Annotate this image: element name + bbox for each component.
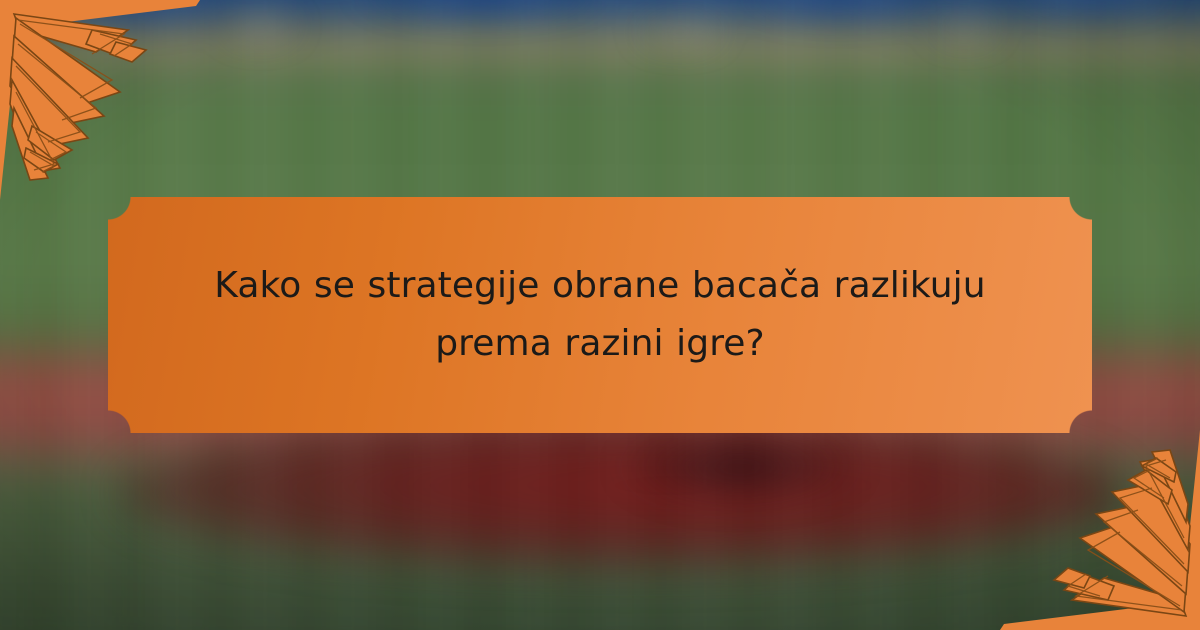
headline-text: Kako se strategije obrane bacača razliku… (108, 257, 1092, 374)
headline-card: Kako se strategije obrane bacača razliku… (108, 197, 1092, 433)
poster-canvas: Kako se strategije obrane bacača razliku… (0, 0, 1200, 630)
